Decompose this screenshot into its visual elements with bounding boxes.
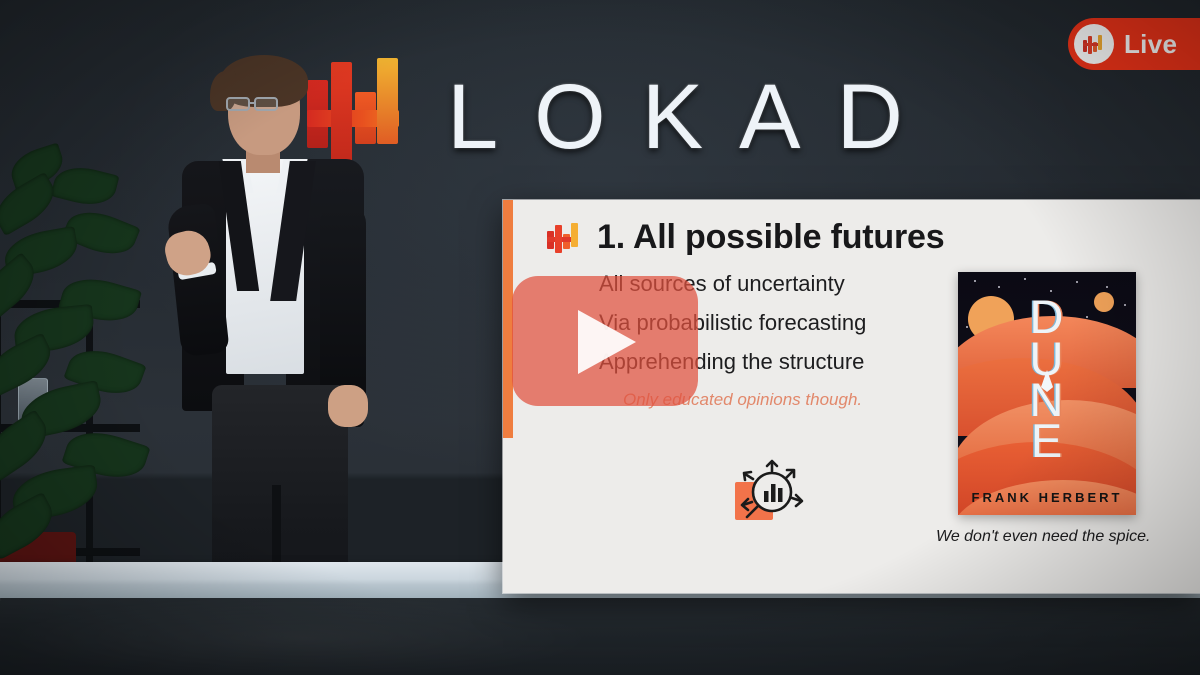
wall-letter-o: O <box>534 71 608 163</box>
eyeglasses-icon <box>226 97 250 111</box>
live-badge: Live <box>1068 18 1200 70</box>
magnifier-bar-chart-arrows-icon <box>729 458 815 532</box>
book-caption: We don't even need the spice. <box>936 528 1140 546</box>
wall-brand-wordmark: L O K A D <box>447 71 905 163</box>
wall-letter-k: K <box>642 71 705 163</box>
slide-title-row: 1. All possible futures <box>547 218 1176 257</box>
wall-letter-a: A <box>739 71 802 163</box>
live-badge-logo <box>1074 24 1114 64</box>
lokad-logo-icon <box>547 223 583 253</box>
dune-book-cover-block: D U N E FRANK HERBERT We don't even need… <box>958 272 1140 546</box>
play-button[interactable] <box>512 276 698 406</box>
wall-letter-d: D <box>836 71 904 163</box>
book-author: FRANK HERBERT <box>958 490 1136 505</box>
play-triangle-icon <box>578 310 636 374</box>
live-label: Live <box>1124 29 1177 60</box>
lokad-logo-icon <box>1083 35 1105 54</box>
book-title-letter: E <box>1031 421 1063 461</box>
dune-book-cover: D U N E FRANK HERBERT <box>958 272 1136 515</box>
studio-floor <box>0 598 1200 675</box>
video-frame: L O K A D <box>0 0 1200 675</box>
slide-title: 1. All possible futures <box>597 218 944 257</box>
